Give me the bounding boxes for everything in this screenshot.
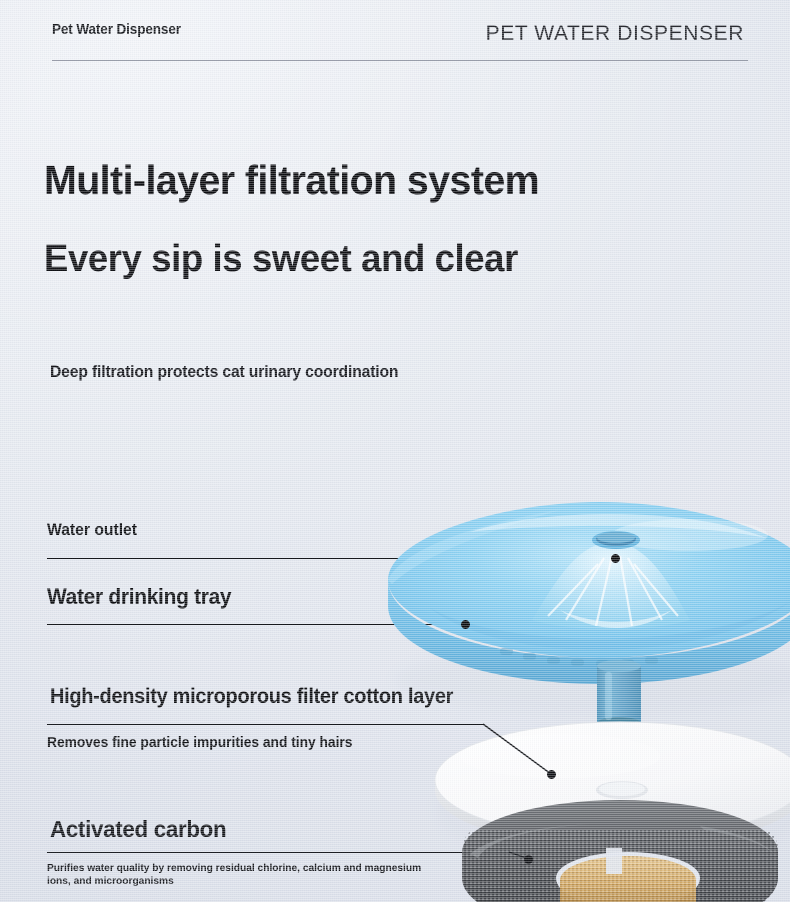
callout-dot-water-outlet xyxy=(611,554,620,563)
callout-dot-water-drinking-tray xyxy=(461,620,470,629)
callout-dot-filter-cotton xyxy=(547,770,556,779)
product-infographic: Pet Water Dispenser PET WATER DISPENSER … xyxy=(0,0,790,902)
callout-dot-activated-carbon xyxy=(524,855,533,864)
leader-lines xyxy=(0,0,790,902)
